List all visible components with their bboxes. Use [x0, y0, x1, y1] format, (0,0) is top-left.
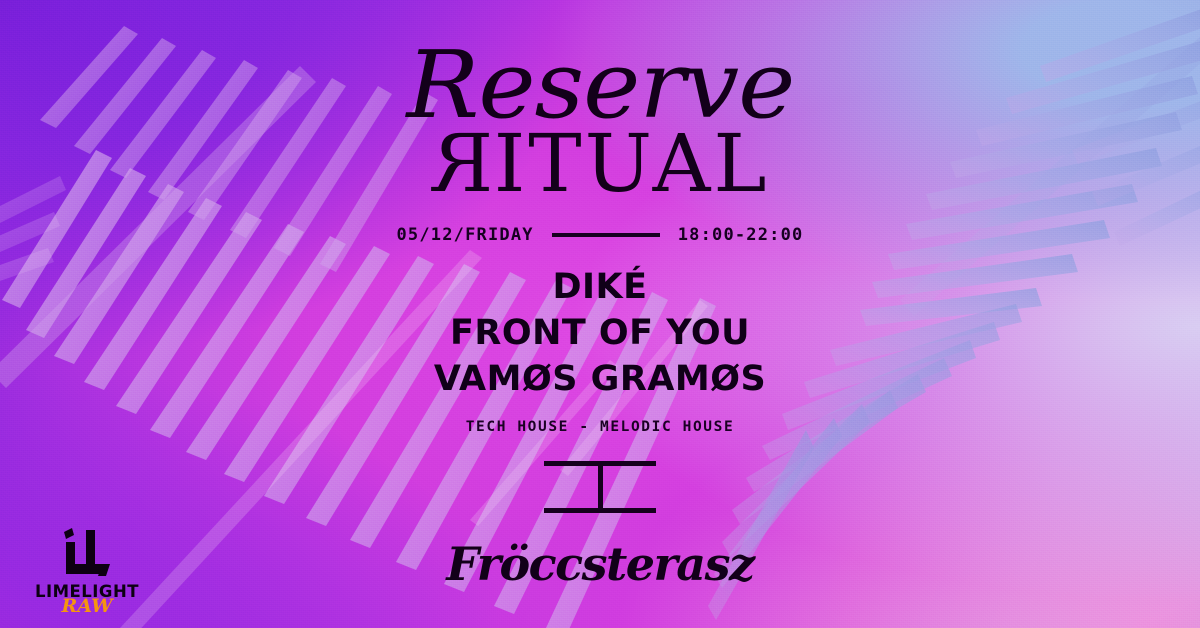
venue-logo: Fröccsterasz	[446, 533, 753, 595]
meta-divider-rule	[552, 233, 660, 237]
ornament-stem	[598, 461, 603, 513]
brand-logo: LIMELIGHT RAW	[28, 526, 146, 617]
artist-name: VAMØS GRAMØS	[434, 359, 766, 399]
artist-name: DIKÉ	[552, 267, 647, 307]
genre-line: TECH HOUSE - MELODIC HOUSE	[466, 419, 735, 435]
poster-content: Reserve RITUAL 05/12/FRIDAY 18:00-22:00 …	[0, 0, 1200, 628]
brand-sub-raw: RAW	[62, 597, 113, 616]
artist-name: FRONT OF YOU	[450, 313, 750, 353]
ibeam-ornament-icon	[544, 461, 656, 513]
limelight-monogram-icon	[58, 526, 116, 582]
title-line-reserve: Reserve	[406, 46, 794, 126]
ornament-bar-bottom	[544, 508, 656, 513]
event-title: Reserve RITUAL	[414, 46, 787, 199]
event-date: 05/12/FRIDAY	[396, 225, 533, 245]
venue-name: Fröccsterasz	[446, 537, 753, 591]
event-time: 18:00-22:00	[678, 225, 804, 245]
date-time-row: 05/12/FRIDAY 18:00-22:00	[396, 225, 803, 245]
event-poster: Reserve RITUAL 05/12/FRIDAY 18:00-22:00 …	[0, 0, 1200, 628]
title-line-ritual: RITUAL	[430, 130, 769, 199]
title-ritual-rest: ITUAL	[494, 130, 770, 199]
mirrored-r-glyph: R	[430, 130, 493, 199]
artist-lineup: DIKÉ FRONT OF YOU VAMØS GRAMØS	[434, 267, 766, 399]
